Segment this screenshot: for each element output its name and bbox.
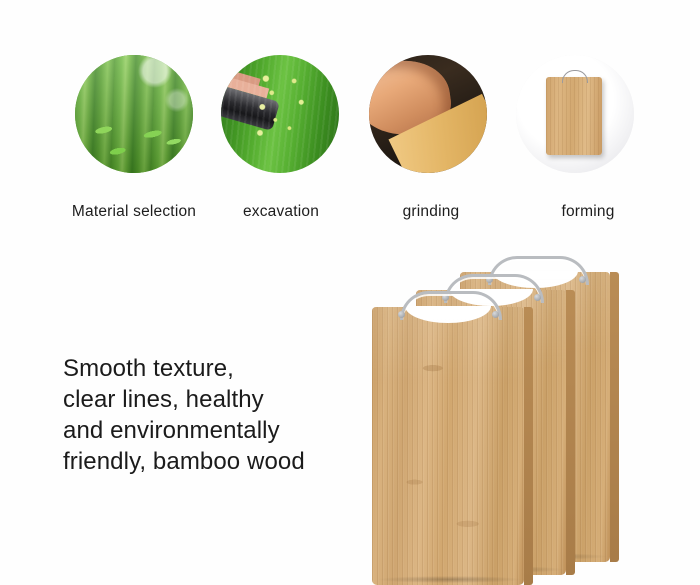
forming-photo [516, 55, 634, 173]
cutting-board-small [372, 307, 524, 585]
excavation-photo [221, 55, 339, 173]
finished-board-icon [516, 55, 634, 173]
handle-rivet [492, 311, 499, 318]
bamboo-drilling-icon [221, 55, 339, 173]
board-edge-face [610, 272, 619, 562]
headline-line-1: Smooth texture, [63, 353, 305, 384]
headline-line-4: friendly, bamboo wood [63, 446, 305, 477]
handle-rivet [534, 294, 541, 301]
hand-grinding-icon [369, 55, 487, 173]
grinding-photo [369, 55, 487, 173]
process-step-label-forming: forming [488, 203, 688, 221]
board-handle-small-icon [400, 291, 502, 320]
infographic-canvas: Material selection excavation grinding f… [0, 0, 700, 585]
handle-rivet [579, 276, 586, 283]
bamboo-forest-icon [75, 55, 193, 173]
board-shadow [378, 576, 521, 583]
product-image-bamboo-board-set [368, 252, 690, 570]
board-edge-face [566, 290, 575, 575]
headline-text: Smooth texture, clear lines, healthy and… [63, 353, 305, 477]
headline-line-2: clear lines, healthy [63, 384, 305, 415]
material-selection-photo [75, 55, 193, 173]
mini-board-shape [546, 77, 602, 155]
mini-board-handle-icon [562, 70, 588, 83]
headline-line-3: and environmentally [63, 415, 305, 446]
handle-rivet [398, 311, 405, 318]
board-edge-face [524, 307, 533, 585]
